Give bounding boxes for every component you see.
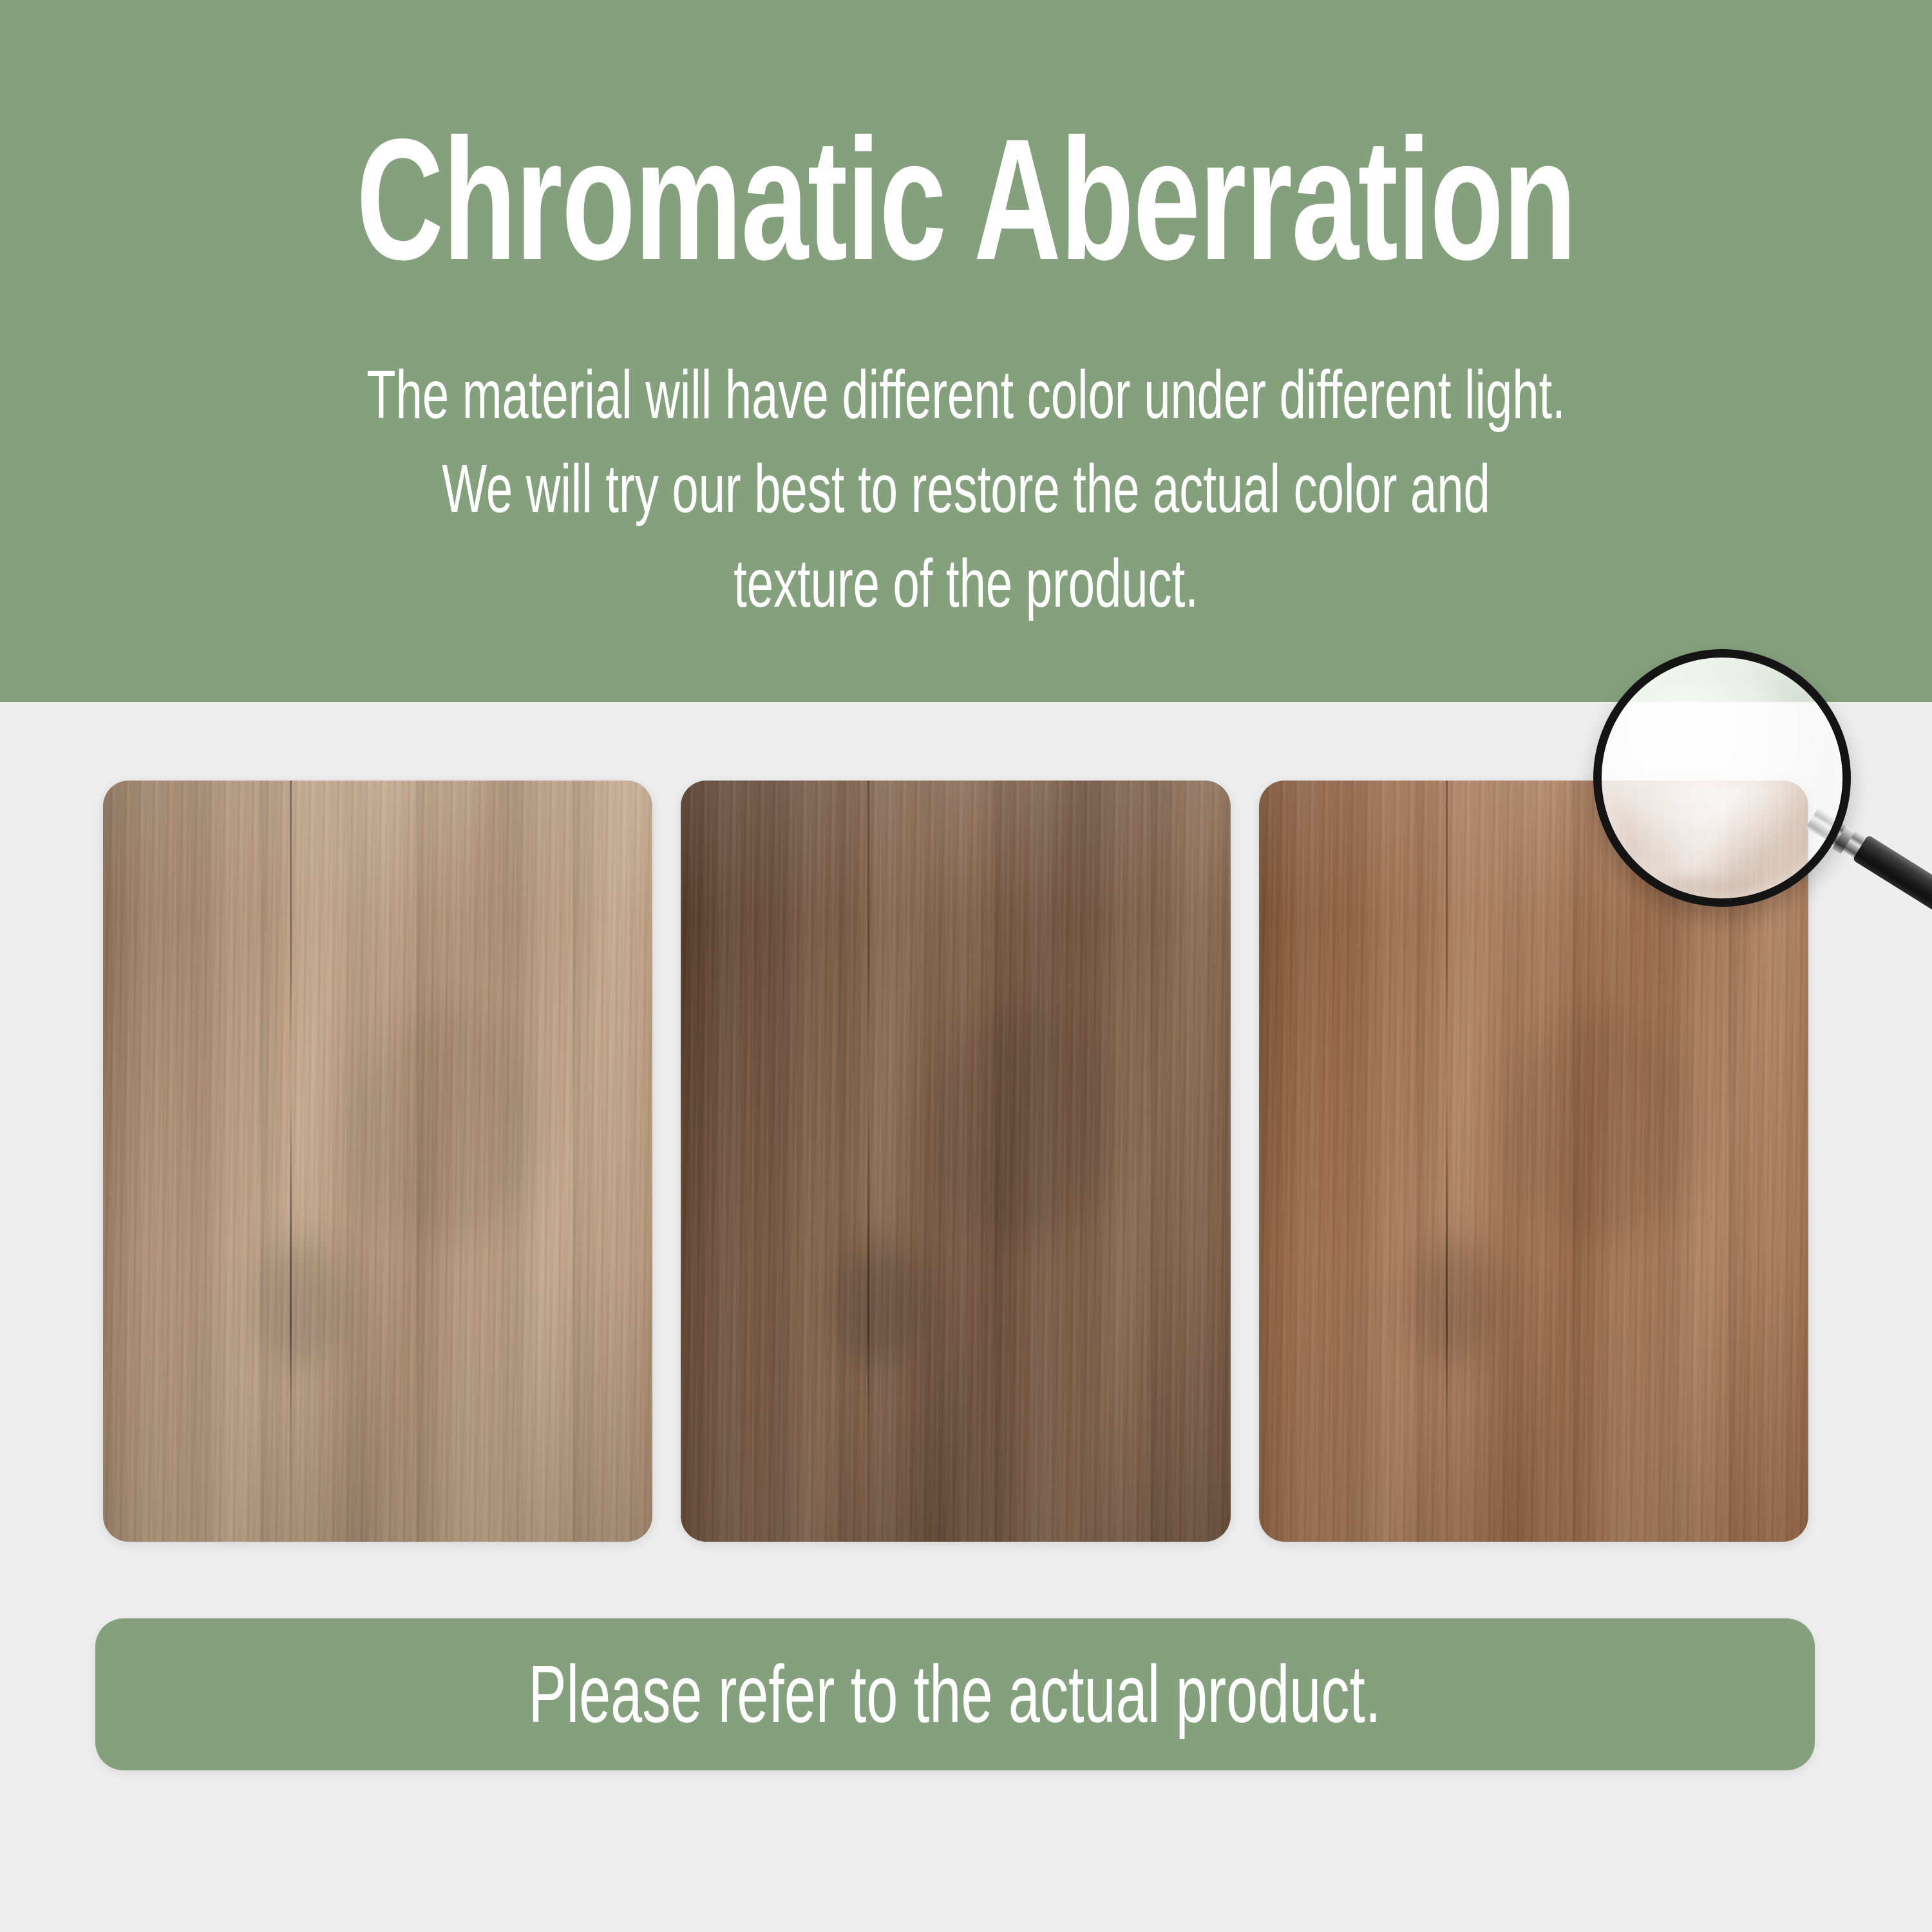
subtitle-line-1: The material will have different color u… [290,348,1642,442]
subtitle-line-3: texture of the product. [290,536,1642,630]
header-banner: Chromatic Aberration The material will h… [0,0,1932,702]
magnifier-grip [1852,835,1932,932]
magnifier-ferrule [1806,807,1871,860]
swatch-shading [681,781,1230,1542]
wood-swatch-row [103,781,1808,1542]
swatch-shading [1259,781,1808,1542]
footer-banner: Please refer to the actual product. [95,1618,1815,1770]
swatch-shading [103,781,652,1542]
page-title: Chromatic Aberration [290,113,1642,285]
dark-walnut-swatch[interactable] [681,781,1230,1542]
page-subtitle: The material will have different color u… [290,348,1642,630]
magnifier-handle [1804,804,1932,932]
red-oak-swatch[interactable] [1259,781,1808,1542]
magnifier-ferrule-band [1832,826,1855,854]
footer-text: Please refer to the actual product. [529,1654,1381,1735]
light-oak-swatch[interactable] [103,781,652,1542]
subtitle-line-2: We will try our best to restore the actu… [290,442,1642,536]
